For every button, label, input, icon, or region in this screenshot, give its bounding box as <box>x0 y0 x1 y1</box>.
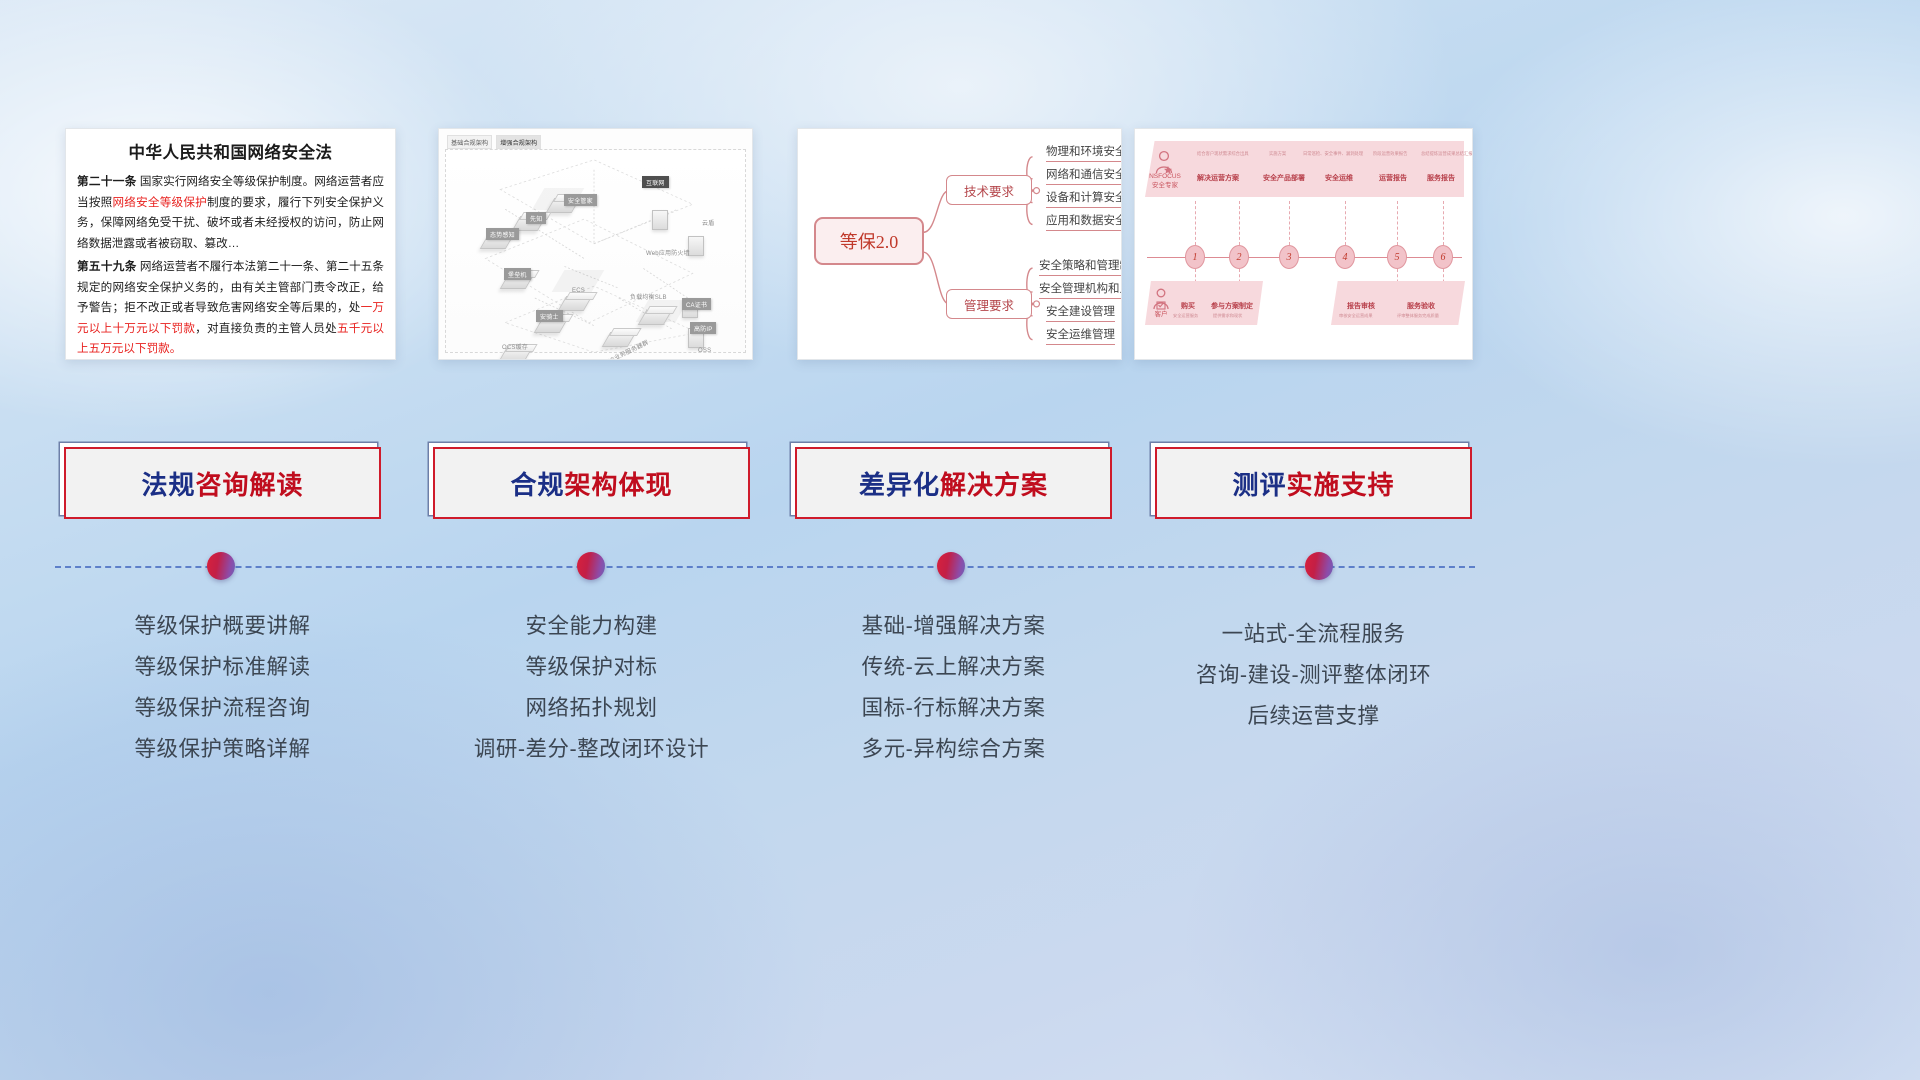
list-item: 一站式-全流程服务 <box>1155 614 1472 655</box>
node-xianzhi: 先知 <box>526 212 546 224</box>
timeline-marker-1[interactable] <box>207 552 235 580</box>
step3-sub: 日常巡检、安全事件、漏洞处理 <box>1303 151 1363 157</box>
mindmap-leaf-policy-system: 安全策略和管理制度 <box>1039 257 1122 276</box>
image-card-row: 中华人民共和国网络安全法 第二十一条 国家实行网络安全等级保护制度。网络运营者应… <box>0 128 1920 360</box>
timeline-tick-4 <box>1345 201 1346 245</box>
banner-4-red: 实施支持 <box>1287 470 1395 500</box>
node-oss: OSS <box>694 346 715 355</box>
law-title: 中华人民共和国网络安全法 <box>77 139 384 163</box>
article-59-t2: ，对直接负责的主管人员处 <box>195 322 337 335</box>
column-differentiated-solution: 基础-增强解决方案 传统-云上解决方案 国标-行标解决方案 多元-异构综合方案 <box>795 606 1112 770</box>
step5-sub: 总结提炼运营成果总结汇报 <box>1421 151 1473 157</box>
timeline-node-2[interactable]: 2 <box>1229 245 1249 269</box>
card-nsfocus-timeline: NSFOCUS 安全专家 结合客户现状需求综合出具 解决运营方案 实施方案 安全… <box>1134 128 1473 360</box>
timeline-node-6[interactable]: 6 <box>1433 245 1453 269</box>
node-bastion-host: 堡垒机 <box>504 268 531 280</box>
node-anqishi: 安骑士 <box>536 310 563 322</box>
bstep1-sub: 安全运营服务 <box>1173 313 1198 319</box>
list-item: 等级保护标准解读 <box>64 647 381 688</box>
banner-3-red: 解决方案 <box>940 470 1048 500</box>
bstep2-title: 参与方案制定 <box>1211 301 1253 311</box>
timeline-marker-2[interactable] <box>577 552 605 580</box>
architecture-canvas: 互联网 安全管家 先知 态势感知 堡垒机 ECS 安骑士 OCS缓存 RDS数据… <box>445 149 746 353</box>
node-waf: Web应用防火墙 <box>642 246 694 258</box>
article-21-highlight: 网络安全等级保护 <box>112 196 207 209</box>
article-21-number: 第二十一条 <box>77 175 137 188</box>
bstep1-title: 购买 <box>1181 301 1195 311</box>
mindmap-branch-management: 管理要求 <box>946 289 1032 319</box>
banner-evaluation-support[interactable]: 测评实施支持 <box>1155 447 1472 519</box>
step5-title: 服务报告 <box>1427 173 1455 183</box>
service-timeline: NSFOCUS 安全专家 结合客户现状需求综合出具 解决运营方案 实施方案 安全… <box>1135 129 1472 359</box>
card-cloud-architecture: 基础合规架构 增强合规架构 <box>438 128 753 360</box>
mindmap-leaf-org-personnel: 安全管理机构和人员 <box>1039 280 1122 299</box>
timeline-tick-3 <box>1289 201 1290 245</box>
node-yundun: 云盾 <box>698 216 718 228</box>
step4-title: 运营报告 <box>1379 173 1407 183</box>
mindmap-leaf-device-compute: 设备和计算安全 <box>1046 189 1122 208</box>
banner-1-text: 法规咨询解读 <box>141 465 303 502</box>
timeline-node-3[interactable]: 3 <box>1279 245 1299 269</box>
card-mlps-mindmap: 等保2.0 技术要求 管理要求 物理和环境安全 网络和通信安全 设备和计算安全 … <box>797 128 1122 360</box>
tab-enhanced-compliance[interactable]: 增强合规架构 <box>496 135 541 149</box>
timeline-tick-5 <box>1397 201 1398 245</box>
timeline-tick-2 <box>1239 201 1240 245</box>
list-item: 基础-增强解决方案 <box>795 606 1112 647</box>
list-item: 等级保护流程咨询 <box>64 688 381 729</box>
timeline-marker-3[interactable] <box>937 552 965 580</box>
step2-title: 安全产品部署 <box>1263 173 1305 183</box>
list-item: 咨询-建设-测评整体闭环 <box>1155 655 1472 696</box>
mindmap-leaf-app-data: 应用和数据安全 <box>1046 212 1122 231</box>
node-ca-cert: CA证书 <box>682 298 711 310</box>
timeline-tick-6 <box>1443 201 1444 245</box>
bstep4-sub: 评审整体服务完成质量 <box>1397 313 1439 319</box>
customer-avatar-icon <box>1151 287 1171 311</box>
node-anti-ddos-ip: 高防IP <box>690 322 716 334</box>
column-regulation-consulting: 等级保护概要讲解 等级保护标准解读 等级保护流程咨询 等级保护策略详解 <box>64 606 381 770</box>
banner-differentiated-solution[interactable]: 差异化解决方案 <box>795 447 1112 519</box>
mindmap-leaf-ops-mgmt: 安全运维管理 <box>1046 326 1115 345</box>
list-item: 国标-行标解决方案 <box>795 688 1112 729</box>
column-compliance-architecture: 安全能力构建 等级保护对标 网络拓扑规划 调研-差分-整改闭环设计 <box>433 606 750 770</box>
node-slb: 负载均衡SLB <box>626 290 671 302</box>
mindmap-branch-technical: 技术要求 <box>946 175 1032 205</box>
node-security-butler: 安全管家 <box>564 194 597 206</box>
timeline-dashed-line <box>55 566 1475 568</box>
expert-role: 安全专家 <box>1143 182 1187 191</box>
list-item: 后续运营支撑 <box>1155 696 1472 737</box>
node-situational-awareness: 态势感知 <box>486 228 519 240</box>
node-ecs: ECS <box>568 286 589 295</box>
expert-label: NSFOCUS 安全专家 <box>1143 173 1187 190</box>
banner-4-blue: 测评 <box>1232 470 1286 500</box>
list-item: 等级保护对标 <box>433 647 750 688</box>
article-59-number: 第五十九条 <box>77 260 137 273</box>
architecture-tabs: 基础合规架构 增强合规架构 <box>447 135 541 149</box>
node-ocs-cache: OCS缓存 <box>498 340 532 352</box>
step4-sub: 阶段运营效果报告 <box>1373 151 1407 157</box>
law-article-21: 第二十一条 国家实行网络安全等级保护制度。网络运营者应当按照网络安全等级保护制度… <box>77 172 384 254</box>
bstep3-sub: 审核安全运营成果 <box>1339 313 1373 319</box>
banner-3-blue: 差异化 <box>859 470 940 500</box>
timeline-node-1[interactable]: 1 <box>1185 245 1205 269</box>
bstep4-title: 服务验收 <box>1407 301 1435 311</box>
list-item: 等级保护策略详解 <box>64 729 381 770</box>
law-body: 中华人民共和国网络安全法 第二十一条 国家实行网络安全等级保护制度。网络运营者应… <box>66 129 395 360</box>
banner-4-text: 测评实施支持 <box>1232 465 1394 502</box>
architecture-diagram: 基础合规架构 增强合规架构 <box>439 129 752 359</box>
banner-regulation-consulting[interactable]: 法规咨询解读 <box>64 447 381 519</box>
expert-org: NSFOCUS <box>1143 173 1187 182</box>
timeline-tick-1 <box>1195 201 1196 245</box>
step1-sub: 结合客户现状需求综合出具 <box>1197 151 1249 157</box>
mindmap-leaf-build-mgmt: 安全建设管理 <box>1046 303 1115 322</box>
step2-sub: 实施方案 <box>1269 151 1286 157</box>
bstep2-sub: 提供需求和现状 <box>1213 313 1242 319</box>
step1-title: 解决运营方案 <box>1197 173 1239 183</box>
banner-3-text: 差异化解决方案 <box>859 465 1048 502</box>
timeline-node-5[interactable]: 5 <box>1387 245 1407 269</box>
list-item: 传统-云上解决方案 <box>795 647 1112 688</box>
timeline-top-band <box>1145 141 1464 197</box>
banner-2-red: 架构体现 <box>565 470 673 500</box>
card-cybersecurity-law: 中华人民共和国网络安全法 第二十一条 国家实行网络安全等级保护制度。网络运营者应… <box>65 128 396 360</box>
node-shape-yundun <box>652 210 668 230</box>
mindmap-leaf-physical-env: 物理和环境安全 <box>1046 143 1122 162</box>
list-item: 安全能力构建 <box>433 606 750 647</box>
list-item: 等级保护概要讲解 <box>64 606 381 647</box>
banner-compliance-architecture[interactable]: 合规架构体现 <box>433 447 750 519</box>
timeline-node-4[interactable]: 4 <box>1335 245 1355 269</box>
list-item: 多元-异构综合方案 <box>795 729 1112 770</box>
banner-2-blue: 合规 <box>510 470 564 500</box>
banner-1-red: 咨询解读 <box>196 470 304 500</box>
step3-title: 安全运维 <box>1325 173 1353 183</box>
mindmap: 等保2.0 技术要求 管理要求 物理和环境安全 网络和通信安全 设备和计算安全 … <box>798 129 1121 359</box>
mindmap-root: 等保2.0 <box>814 217 924 265</box>
list-item: 调研-差分-整改闭环设计 <box>433 729 750 770</box>
node-internet: 互联网 <box>642 176 669 188</box>
banner-1-blue: 法规 <box>141 470 195 500</box>
mindmap-leaf-network-comm: 网络和通信安全 <box>1046 166 1122 185</box>
column-evaluation-support: 一站式-全流程服务 咨询-建设-测评整体闭环 后续运营支撑 <box>1155 614 1472 737</box>
tab-basic-compliance[interactable]: 基础合规架构 <box>447 135 492 149</box>
expert-avatar-icon <box>1153 149 1175 175</box>
bstep3-title: 报告审核 <box>1347 301 1375 311</box>
banner-2-text: 合规架构体现 <box>510 465 672 502</box>
timeline-marker-4[interactable] <box>1305 552 1333 580</box>
list-item: 网络拓扑规划 <box>433 688 750 729</box>
law-article-59: 第五十九条 网络运营者不履行本法第二十一条、第二十五条规定的网络安全保护义务的，… <box>77 257 384 360</box>
